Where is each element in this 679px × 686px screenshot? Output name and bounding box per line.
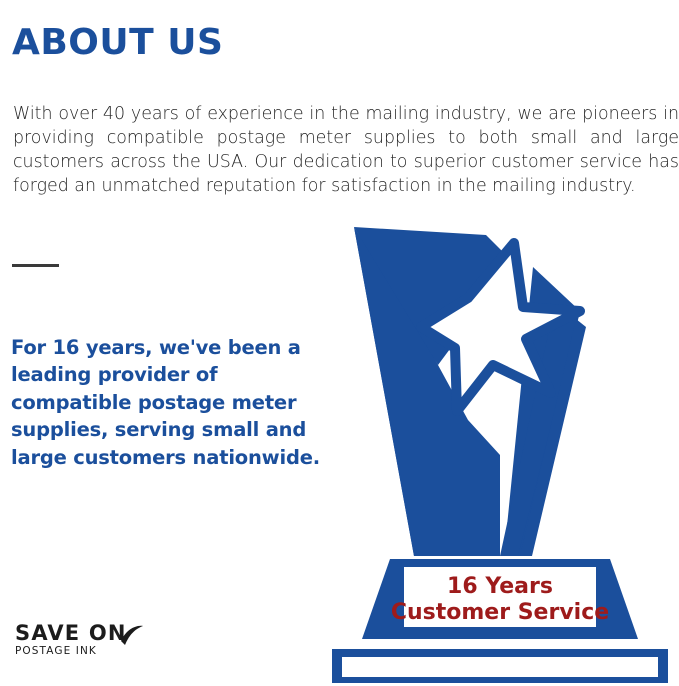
about-us-page: ABOUT US With over 40 years of experienc… bbox=[0, 0, 679, 686]
page-title: ABOUT US bbox=[12, 22, 223, 63]
brand-logo: SAVE ON POSTAGE INK bbox=[15, 622, 175, 657]
about-paragraph: With over 40 years of experience in the … bbox=[13, 103, 679, 198]
plaque-line-1: 16 Years bbox=[447, 574, 553, 599]
logo-main-text: SAVE ON bbox=[15, 622, 175, 644]
swoosh-icon bbox=[119, 623, 144, 648]
trophy-illustration: 16 Years Customer Service bbox=[318, 215, 679, 686]
logo-sub-text: POSTAGE INK bbox=[15, 645, 175, 657]
section-divider bbox=[12, 264, 59, 267]
pullquote-text: For 16 years, we've been a leading provi… bbox=[11, 334, 321, 472]
plaque-line-2: Customer Service bbox=[391, 600, 609, 625]
